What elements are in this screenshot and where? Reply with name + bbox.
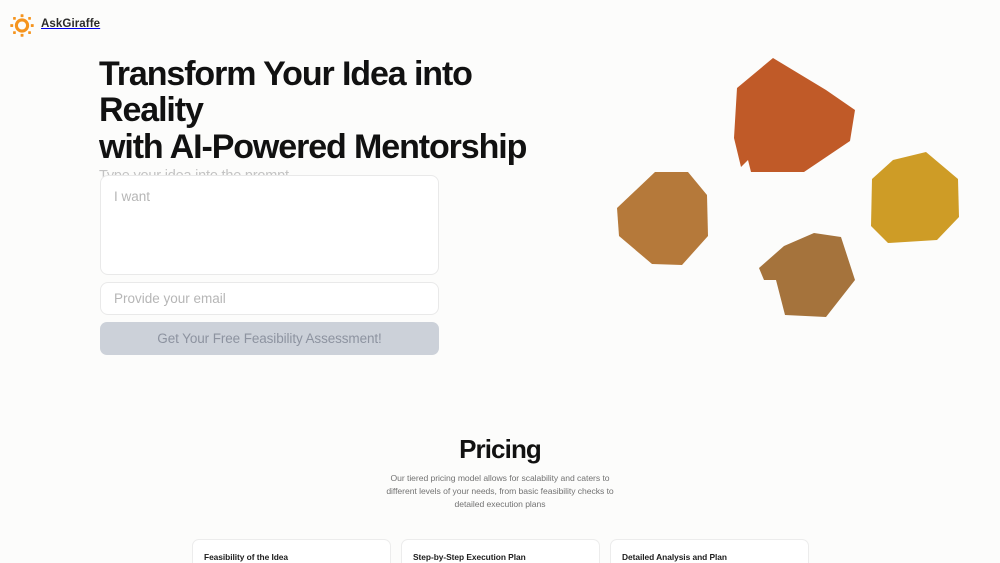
landing-page: AskGiraffe Transform Your Idea into Real… (0, 0, 1000, 563)
pricing-title: Pricing (0, 435, 1000, 464)
pricing-section: Pricing Our tiered pricing model allows … (0, 435, 1000, 511)
caramel-polygon (617, 172, 708, 265)
pricing-description: Our tiered pricing model allows for scal… (375, 472, 625, 511)
pricing-card[interactable]: Detailed Analysis and Plan (610, 539, 809, 563)
email-field[interactable] (100, 282, 439, 315)
pricing-card[interactable]: Feasibility of the Idea (192, 539, 391, 563)
lead-capture-form: Get Your Free Feasibility Assessment! (100, 175, 439, 355)
pricing-card[interactable]: Step-by-Step Execution Plan (401, 539, 600, 563)
taupe-polygon (759, 233, 855, 317)
plan-name: Step-by-Step Execution Plan (413, 552, 588, 562)
hero-section: Transform Your Idea into Reality with AI… (99, 56, 569, 186)
sun-idea-icon (10, 14, 34, 37)
idea-input[interactable] (100, 175, 439, 275)
brand-logo-link[interactable]: AskGiraffe (10, 12, 100, 38)
plan-name: Feasibility of the Idea (204, 552, 379, 562)
plan-name: Detailed Analysis and Plan (622, 552, 797, 562)
decorative-shapes (600, 40, 1000, 350)
pricing-card-row: Feasibility of the Idea Step-by-Step Exe… (192, 539, 809, 563)
page-title: Transform Your Idea into Reality with AI… (99, 56, 569, 165)
submit-assessment-button[interactable]: Get Your Free Feasibility Assessment! (100, 322, 439, 355)
brand-name: AskGiraffe (41, 19, 100, 31)
terracotta-polygon (734, 58, 855, 172)
gold-polygon (871, 152, 959, 243)
